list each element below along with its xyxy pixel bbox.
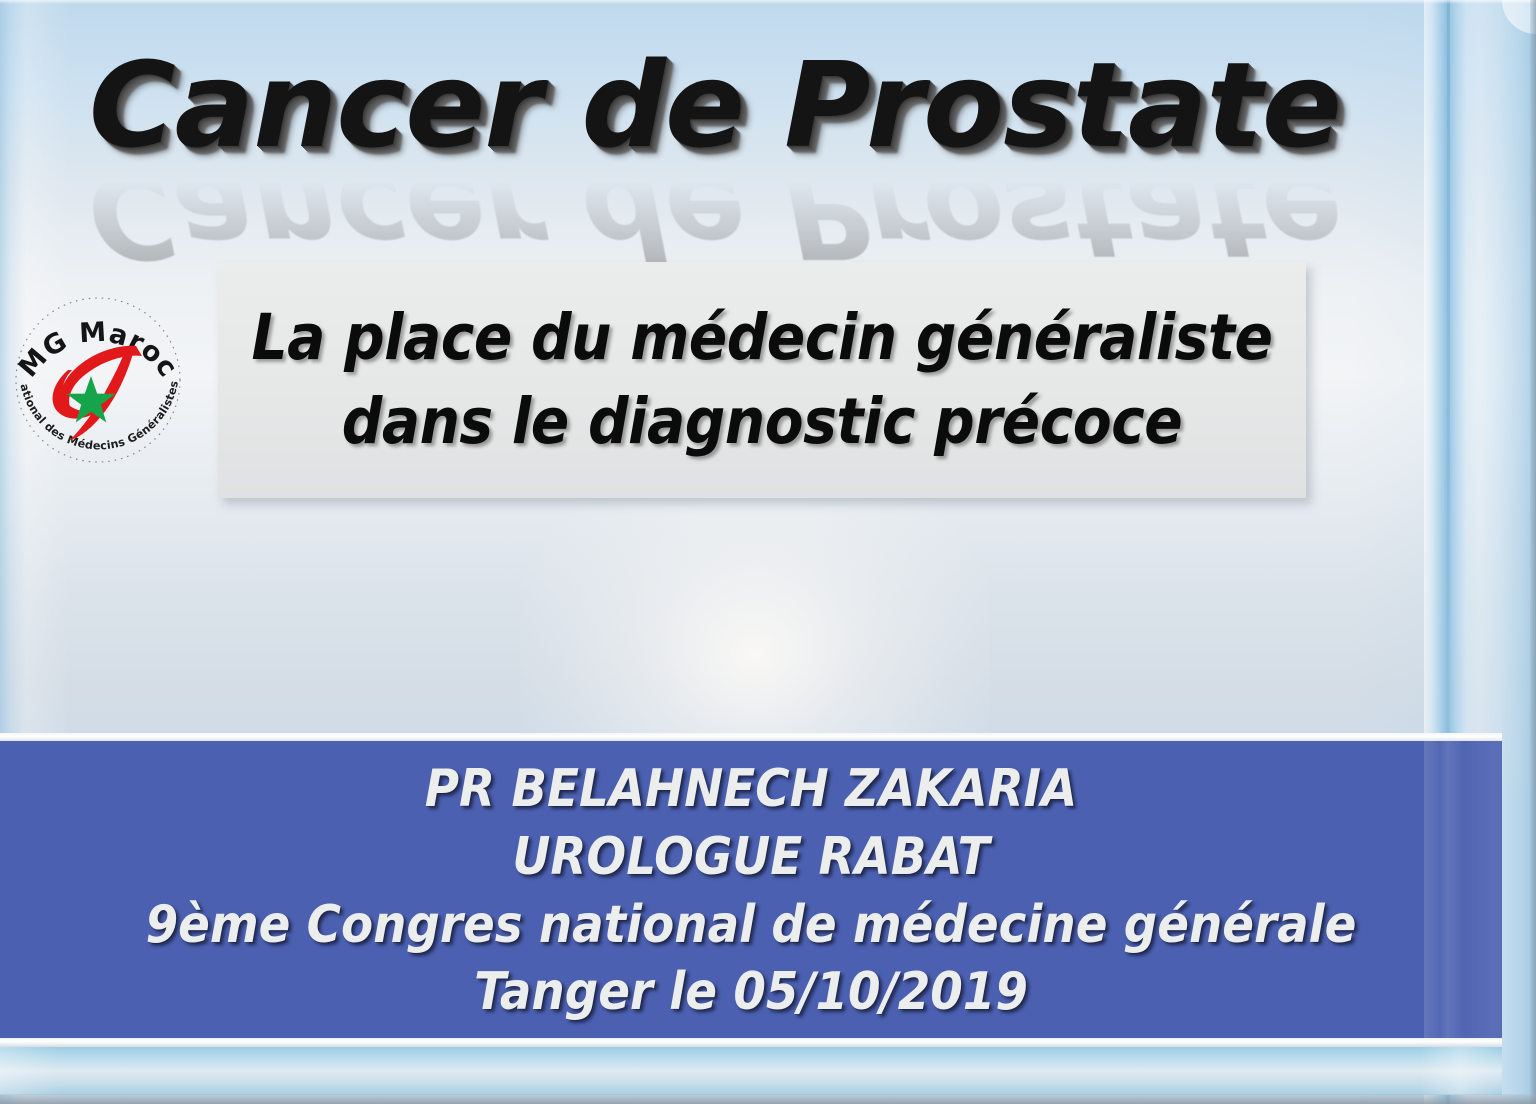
presenter-role: UROLOGUE RABAT <box>512 824 989 892</box>
footer-text-block: PR BELAHNECH ZAKARIA UROLOGUE RABAT 9ème… <box>0 741 1502 1038</box>
slide-frame-bottom <box>0 1094 1536 1104</box>
slide-frame-right <box>1530 0 1536 1104</box>
subtitle-line-1: La place du médecin généraliste <box>252 296 1273 380</box>
presentation-slide: Cancer de Prostate Cancer de Prostate MG… <box>0 0 1536 1104</box>
footer-band-top-separator <box>0 733 1502 741</box>
mg-maroc-logo: MG Maroc Collectif National des Médecins… <box>8 250 188 485</box>
presenter-name: PR BELAHNECH ZAKARIA <box>425 756 1077 824</box>
footer-band: PR BELAHNECH ZAKARIA UROLOGUE RABAT 9ème… <box>0 741 1502 1038</box>
slide-frame-top <box>0 0 1536 4</box>
event-location-date: Tanger le 05/10/2019 <box>474 959 1028 1027</box>
subtitle-line-2: dans le diagnostic précoce <box>342 380 1182 464</box>
svg-text:MG Maroc: MG Maroc <box>13 317 184 384</box>
event-name: 9ème Congres national de médecine généra… <box>146 892 1357 960</box>
subtitle-panel: La place du médecin généraliste dans le … <box>218 262 1306 498</box>
footer-band-bottom-separator <box>0 1038 1502 1047</box>
bottom-accent-strip <box>0 1047 1502 1095</box>
mg-maroc-logo-icon: MG Maroc Collectif National des Médecins… <box>8 250 188 485</box>
